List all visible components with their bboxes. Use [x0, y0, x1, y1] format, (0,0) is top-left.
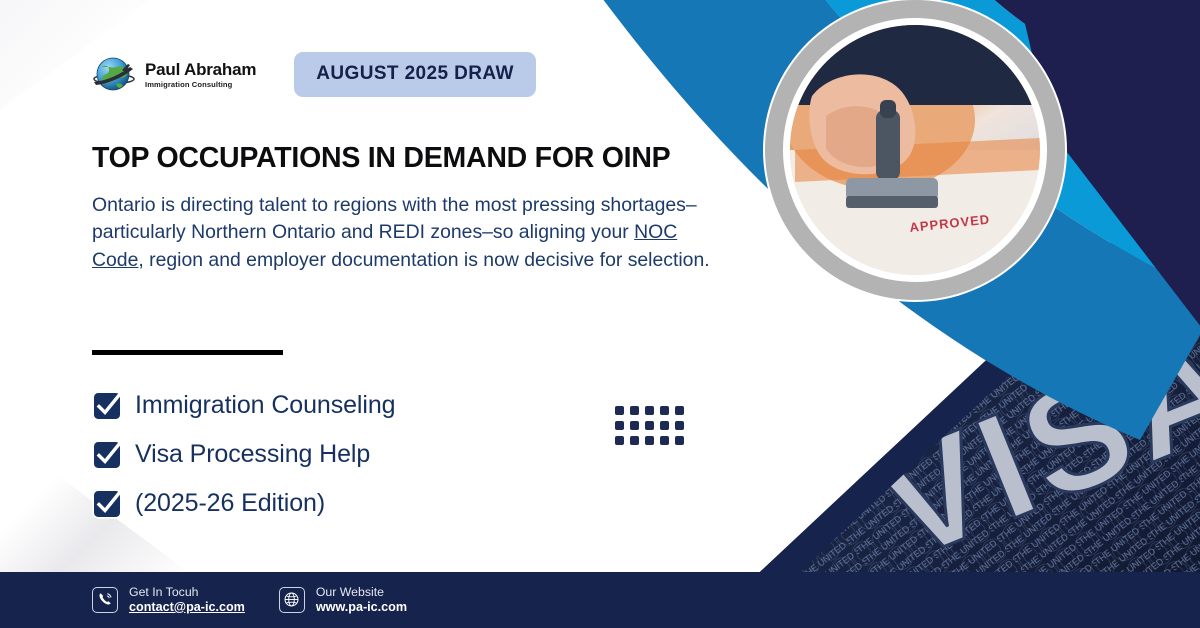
contact-email[interactable]: contact@pa-ic.com	[129, 600, 245, 615]
brand-tagline: Immigration Consulting	[145, 81, 256, 89]
lede-paragraph: Ontario is directing talent to regions w…	[92, 192, 712, 274]
checkbox-checked-icon[interactable]	[92, 489, 122, 519]
checklist-label: Visa Processing Help	[135, 440, 370, 469]
grid-dot	[660, 406, 669, 415]
section-divider	[92, 350, 283, 355]
page-title: TOP OCCUPATIONS IN DEMAND FOR OINP	[92, 142, 670, 175]
list-item[interactable]: Visa Processing Help	[92, 430, 395, 479]
lede-part2: , region and employer documentation is n…	[138, 249, 709, 271]
footer-contact[interactable]: Get In Tocuh contact@pa-ic.com	[92, 585, 245, 614]
grid-dot	[660, 421, 669, 430]
phone-icon	[92, 587, 118, 613]
decorative-artwork: THE UNITED STATES OF AMERICA VISA	[580, 0, 1200, 628]
grid-dot	[675, 406, 684, 415]
grid-dot	[660, 436, 669, 445]
website-label: Our Website	[316, 585, 407, 600]
footer-bar: Get In Tocuh contact@pa-ic.com Our Websi…	[0, 572, 1200, 628]
grid-dot	[645, 406, 654, 415]
brand-logo[interactable]: Paul Abraham Immigration Consulting	[92, 54, 256, 96]
grid-dot	[675, 436, 684, 445]
contact-label: Get In Tocuh	[129, 585, 245, 600]
globe-icon	[279, 587, 305, 613]
grid-dot	[675, 421, 684, 430]
grid-dot	[630, 421, 639, 430]
grid-dot	[645, 436, 654, 445]
header-row: Paul Abraham Immigration Consulting AUGU…	[92, 52, 536, 97]
grid-dot	[645, 421, 654, 430]
website-url[interactable]: www.pa-ic.com	[316, 600, 407, 615]
checklist-label: (2025-26 Edition)	[135, 489, 325, 518]
footer-website[interactable]: Our Website www.pa-ic.com	[279, 585, 407, 614]
grid-dot	[615, 436, 624, 445]
globe-plane-icon	[92, 54, 138, 96]
feature-checklist: Immigration Counseling Visa Processing H…	[92, 381, 395, 528]
grid-dot	[615, 421, 624, 430]
grid-dot	[615, 406, 624, 415]
checkbox-checked-icon[interactable]	[92, 440, 122, 470]
grid-dot	[630, 406, 639, 415]
grid-dot	[630, 436, 639, 445]
checklist-label: Immigration Counseling	[135, 391, 395, 420]
brand-name: Paul Abraham	[145, 60, 256, 79]
list-item[interactable]: (2025-26 Edition)	[92, 479, 395, 528]
dot-grid-decoration	[613, 404, 687, 448]
lede-part1: Ontario is directing talent to regions w…	[92, 194, 697, 243]
list-item[interactable]: Immigration Counseling	[92, 381, 395, 430]
draw-badge[interactable]: AUGUST 2025 DRAW	[294, 52, 536, 97]
promo-banner: THE UNITED STATES OF AMERICA VISA	[0, 0, 1200, 628]
checkbox-checked-icon[interactable]	[92, 391, 122, 421]
